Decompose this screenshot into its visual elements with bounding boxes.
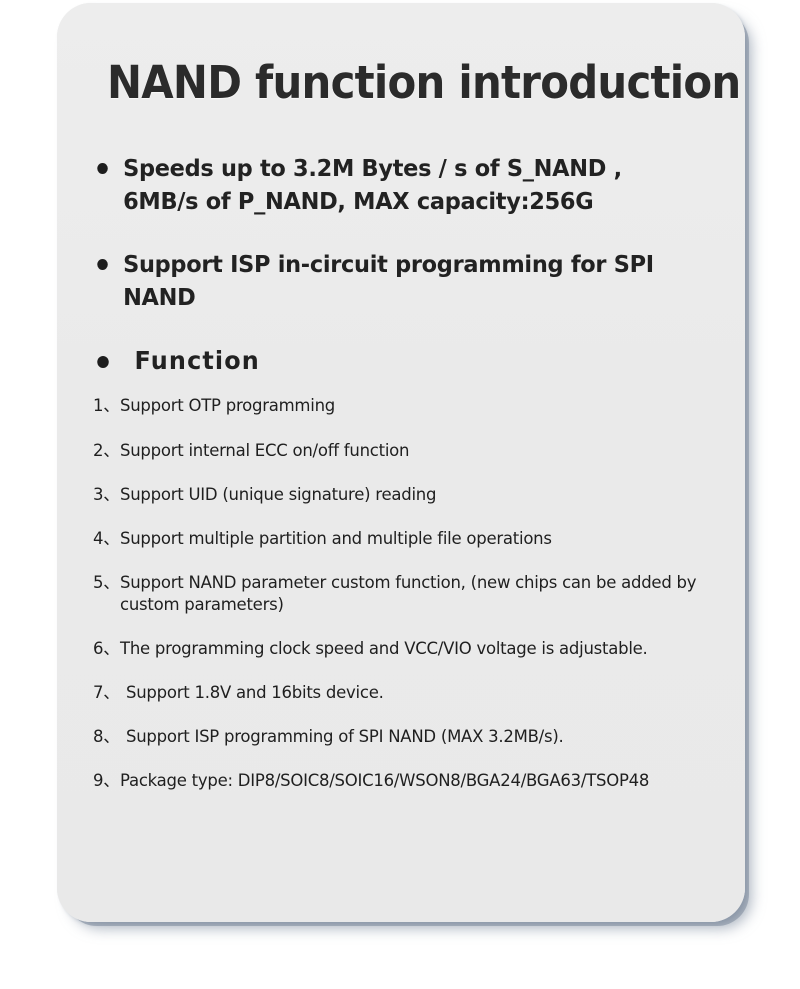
list-item-number: 9、	[93, 770, 120, 792]
list-item: 3、 Support UID (unique signature) readin…	[93, 484, 699, 506]
bullet-item-isp-label: Support ISP in-circuit programming for S…	[123, 248, 671, 313]
page-title: NAND function introduction	[107, 59, 658, 106]
list-item-label: Support 1.8V and 16bits device.	[126, 682, 699, 704]
function-section-label: Function	[135, 344, 672, 379]
list-item-number: 4、	[93, 528, 120, 550]
list-item-number: 3、	[93, 484, 120, 506]
list-item-label: Package type: DIP8/SOIC8/SOIC16/WSON8/BG…	[120, 770, 699, 792]
list-item-label: Support NAND parameter custom function, …	[120, 572, 699, 616]
list-item-number: 7、	[93, 682, 126, 704]
list-item: 9、 Package type: DIP8/SOIC8/SOIC16/WSON8…	[93, 770, 699, 792]
list-item-label: Support multiple partition and multiple …	[120, 528, 699, 550]
bullet-item-function-heading: Function	[82, 344, 671, 379]
list-item-label: The programming clock speed and VCC/VIO …	[120, 638, 699, 660]
list-item: 7、 Support 1.8V and 16bits device.	[93, 682, 699, 704]
card-content: NAND function introduction Speeds up to …	[57, 3, 745, 793]
bullet-dot-icon	[97, 259, 108, 270]
list-item-label: Support UID (unique signature) reading	[120, 484, 699, 506]
list-item-label: Support OTP programming	[120, 395, 699, 417]
list-item: 1、 Support OTP programming	[93, 395, 699, 417]
feature-bullet-list: Speeds up to 3.2M Bytes / s of S_NAND , …	[82, 152, 699, 378]
page-root: NAND function introduction Speeds up to …	[0, 0, 800, 989]
list-item: 4、 Support multiple partition and multip…	[93, 528, 699, 550]
bullet-item-isp: Support ISP in-circuit programming for S…	[82, 248, 671, 313]
list-item: 2、 Support internal ECC on/off function	[93, 440, 699, 462]
bullet-dot-icon	[97, 356, 108, 368]
list-item-number: 1、	[93, 395, 120, 417]
bullet-item-speed: Speeds up to 3.2M Bytes / s of S_NAND , …	[82, 152, 671, 217]
list-item-number: 6、	[93, 638, 120, 660]
list-item-label: Support internal ECC on/off function	[120, 440, 699, 462]
bullet-dot-icon	[97, 163, 108, 174]
list-item-label: Support ISP programming of SPI NAND (MAX…	[126, 726, 699, 748]
list-item: 6、 The programming clock speed and VCC/V…	[93, 638, 699, 660]
function-numbered-list: 1、 Support OTP programming 2、 Support in…	[82, 395, 699, 792]
list-item-number: 2、	[93, 440, 120, 462]
list-item: 5、 Support NAND parameter custom functio…	[93, 572, 699, 616]
list-item-number: 8、	[93, 726, 126, 748]
bullet-item-speed-label: Speeds up to 3.2M Bytes / s of S_NAND , …	[123, 152, 671, 217]
nand-feature-card: NAND function introduction Speeds up to …	[57, 3, 745, 922]
list-item-number: 5、	[93, 572, 120, 594]
list-item: 8、 Support ISP programming of SPI NAND (…	[93, 726, 699, 748]
